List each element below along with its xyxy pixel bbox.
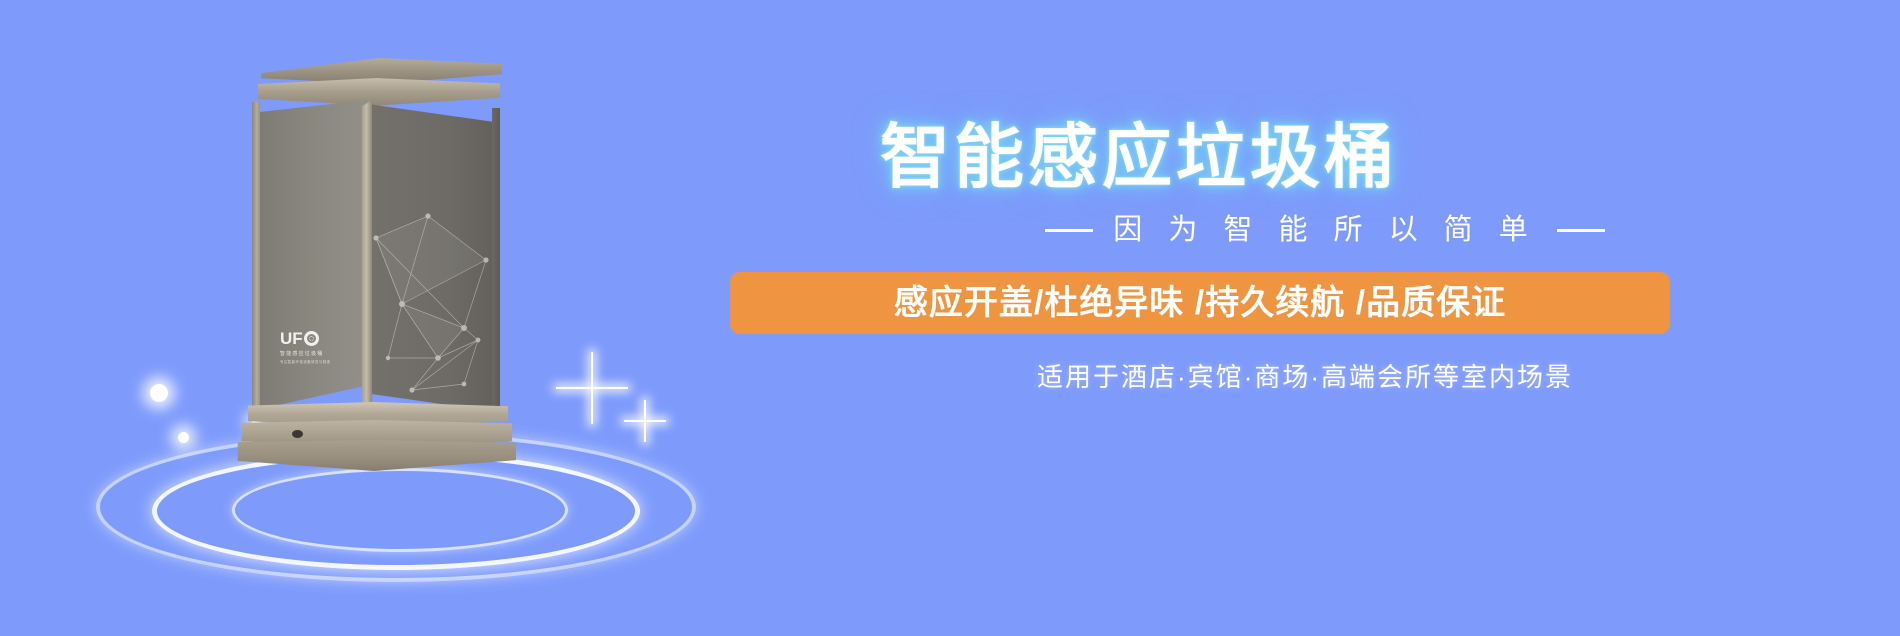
ripple-ring-middle — [152, 452, 640, 570]
tagline-rule-right — [1557, 229, 1605, 232]
brand-logo-ring-icon — [304, 331, 319, 346]
usage-scenes-row: 适用于酒店·宾馆·商场·高端会所等室内场景 — [735, 364, 1875, 391]
brand-logo-letters: UF — [280, 330, 303, 347]
promo-copy-block: 智能感应垃圾桶 因 为 智 能 所 以 简 单 感应开盖/杜绝异味 /持久续航 … — [760, 0, 1900, 636]
bin-plinth-base — [232, 440, 516, 476]
sparkle-glow-icon — [150, 384, 168, 402]
page-title: 智能感应垃圾桶 — [880, 122, 1398, 192]
trash-bin-product-image: UF 智能感应垃圾桶 专注智能环保设备研发与制造 — [246, 58, 502, 418]
infrared-sensor-icon — [292, 430, 303, 438]
tagline-text: 因 为 智 能 所 以 简 单 — [1113, 216, 1536, 245]
feature-highlight-badge: 感应开盖/杜绝异味 /持久续航 /品质保证 — [730, 272, 1670, 334]
polygon-network-graphic — [368, 208, 500, 398]
sparkle-star-icon — [556, 352, 628, 424]
sparkle-star-icon — [624, 400, 666, 442]
brand-logo-mark: UF — [280, 330, 364, 347]
usage-scenes-text: 适用于酒店·宾馆·商场·高端会所等室内场景 — [1037, 364, 1573, 390]
feature-highlight-text: 感应开盖/杜绝异味 /持久续航 /品质保证 — [894, 286, 1506, 320]
product-stage: UF 智能感应垃圾桶 专注智能环保设备研发与制造 — [0, 0, 760, 636]
ripple-ring-inner — [232, 468, 568, 552]
tagline-rule-left — [1045, 229, 1093, 232]
bin-lid-rim — [248, 78, 500, 108]
brand-logo: UF 智能感应垃圾桶 专注智能环保设备研发与制造 — [280, 330, 364, 365]
product-promo-banner: UF 智能感应垃圾桶 专注智能环保设备研发与制造 智能感应垃圾桶 因 为 智 能… — [0, 0, 1900, 636]
brand-logo-tagline: 专注智能环保设备研发与制造 — [280, 360, 364, 365]
brand-logo-cn: 智能感应垃圾桶 — [280, 350, 364, 357]
bin-corner-edge-left — [252, 102, 260, 408]
sparkle-glow-icon — [178, 432, 189, 443]
tagline-row: 因 为 智 能 所 以 简 单 — [755, 216, 1895, 245]
